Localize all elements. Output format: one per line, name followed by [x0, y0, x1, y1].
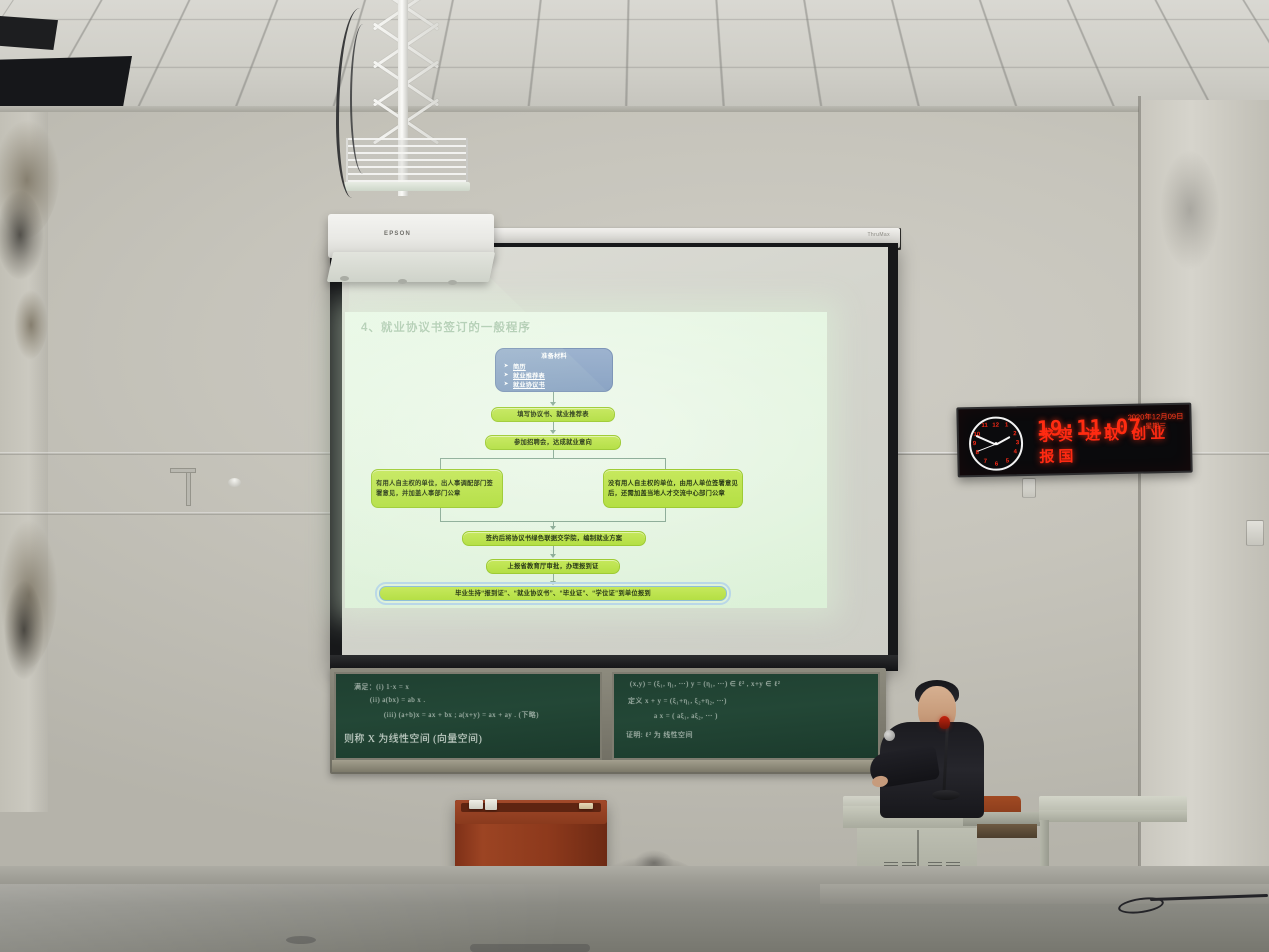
chalk-line-r4: 证明: ℓ² 为 线性空间: [626, 730, 693, 740]
connector-merge-left: [440, 508, 441, 522]
flow-node-after-2: 上报省教育厅审批，办理报到证: [486, 559, 620, 574]
microphone-head-icon: [939, 716, 950, 729]
blackboard-left-panel: 满足：(i) 1·x = x (ii) a(bx) = ab x . (iii)…: [334, 672, 602, 760]
clock-hub: [995, 442, 998, 445]
classroom-scene: ThruMax 4、就业协议书签订的一般程序 准备材料 简历 就业推荐表 就业协…: [0, 0, 1269, 952]
presenter: [862, 678, 986, 818]
connector-arrow-5: [550, 581, 556, 585]
projected-slide: 4、就业协议书签订的一般程序 准备材料 简历 就业推荐表 就业协议书 填写协议书…: [345, 312, 827, 608]
raised-platform-step: [820, 884, 1269, 904]
wall-baseboard: [0, 866, 1269, 886]
signal-cable: [350, 24, 376, 174]
wall-outlet-box: [1246, 520, 1264, 546]
chalk-line-r2: 定义 x + y = (ξ₁+η₁, ξ₂+η₂, ⋯): [628, 696, 727, 706]
connector-arrow-1: [550, 402, 556, 406]
analog-clock-face: 12 1 2 3 4 5 6 7 8 9 10 11: [968, 416, 1023, 471]
clock-second-hand: [977, 444, 996, 452]
connector-branch-bar: [440, 458, 666, 459]
wall-corner-line: [1138, 96, 1141, 896]
chalk-line-l1: 满足：(i) 1·x = x: [354, 682, 409, 692]
projector-lens-face: [327, 252, 495, 282]
wall-seam-left: [0, 512, 340, 515]
lectern-item-chalk: [579, 803, 593, 809]
prepare-bullet-2: 就业推荐表: [513, 372, 604, 381]
projector-foot-2: [398, 279, 407, 284]
clock-numeral-5: 5: [1006, 458, 1009, 464]
chalk-line-l3: (iii) (a+b)x = ax + bx ; a(x+y) = ax + a…: [384, 710, 539, 720]
flow-node-step-2: 参加招聘会，达成就业意向: [485, 435, 621, 450]
slide-title: 4、就业协议书签订的一般程序: [361, 319, 531, 335]
connector-arrow-4: [550, 554, 556, 558]
presenter-sleeve-badge-icon: [884, 730, 895, 741]
lectern-item-chalk-box: [469, 800, 483, 809]
ceiling-tile-grid: [0, 0, 1269, 118]
chalk-line-r1: (x,y) = (ξ₁, η₁, ⋯) y = (η₁, ⋯) ∈ ℓ² , x…: [630, 680, 780, 688]
clock-numeral-2: 2: [1013, 431, 1016, 437]
prepare-heading: 准备材料: [504, 352, 604, 362]
led-date-text: 2020年12月09日: [1128, 412, 1184, 422]
clock-hour-hand: [996, 436, 1011, 446]
projector-foot-3: [448, 280, 457, 285]
floor-scuff-2: [470, 944, 590, 952]
clock-numeral-3: 3: [1016, 440, 1019, 446]
connector-merge-right: [665, 508, 666, 522]
clock-numeral-12: 12: [992, 423, 999, 429]
flow-node-prepare-materials: 准备材料 简历 就业推荐表 就业协议书: [495, 348, 613, 392]
ceiling: [0, 0, 1269, 118]
blackboard-chalk-ledge: [332, 760, 884, 772]
flow-node-step-1: 填写协议书、就业推荐表: [491, 407, 615, 422]
projector-brand-label: EPSON: [384, 231, 411, 237]
wall-conduit: [186, 470, 191, 506]
dome-sensor-icon: [228, 478, 241, 487]
chalk-line-l4: 则称 X 为线性空间 (向量空间): [344, 730, 482, 745]
projector-foot-1: [340, 276, 349, 281]
ceiling-open-tile-secondary: [0, 16, 58, 50]
clock-numeral-7: 7: [984, 459, 987, 465]
chalk-line-r3: a x = ( aξ₁, aξ₂, ⋯ ): [654, 712, 718, 720]
led-wall-clock: 12 1 2 3 4 5 6 7 8 9 10 11 19:11:07 2020…: [956, 403, 1192, 478]
screen-brand-label: ThruMax: [867, 232, 890, 238]
desk-open-shelf: [977, 824, 1037, 838]
clock-numeral-11: 11: [981, 423, 987, 429]
prepare-bullet-1: 简历: [513, 363, 604, 372]
flow-node-final: 毕业生持“报到证”、“就业协议书”、“毕业证”、“学位证”到单位报到: [379, 586, 727, 601]
lectern-item-eraser: [485, 799, 497, 810]
clock-numeral-1: 1: [1005, 422, 1008, 428]
flow-node-branch-right: 没有用人自主权的单位，由用人单位签署意见后，还需加盖当地人才交流中心部门公章: [603, 469, 743, 508]
microphone-base: [932, 790, 960, 800]
prepare-bullet-3: 就业协议书: [513, 381, 604, 390]
blackboard-right-panel: (x,y) = (ξ₁, η₁, ⋯) y = (η₁, ⋯) ∈ ℓ² , x…: [612, 672, 880, 760]
blackboard-frame: 满足：(i) 1·x = x (ii) a(bx) = ab x . (iii)…: [330, 668, 886, 774]
side-desk-edge: [1039, 810, 1187, 822]
clock-numeral-4: 4: [1014, 449, 1017, 455]
wall-conduit-arm: [170, 468, 196, 473]
flow-node-branch-left: 有用人自主权的单位，出人事调配部门签署意见，并加盖人事部门公章: [371, 469, 503, 508]
clock-numeral-6: 6: [995, 462, 998, 468]
flow-node-after-1: 签约后将协议书绿色联据交学院，编制就业方案: [462, 531, 646, 546]
chalk-line-l2: (ii) a(bx) = ab x .: [370, 696, 425, 704]
clock-numeral-9: 9: [973, 441, 976, 447]
led-motto-display: 求实 进取 创业 报国: [1039, 422, 1191, 467]
connector-arrow-3: [550, 526, 556, 530]
connector-arrow-2: [550, 430, 556, 434]
wall-switch-box: [1022, 478, 1036, 498]
floor-scuff-1: [286, 936, 316, 944]
